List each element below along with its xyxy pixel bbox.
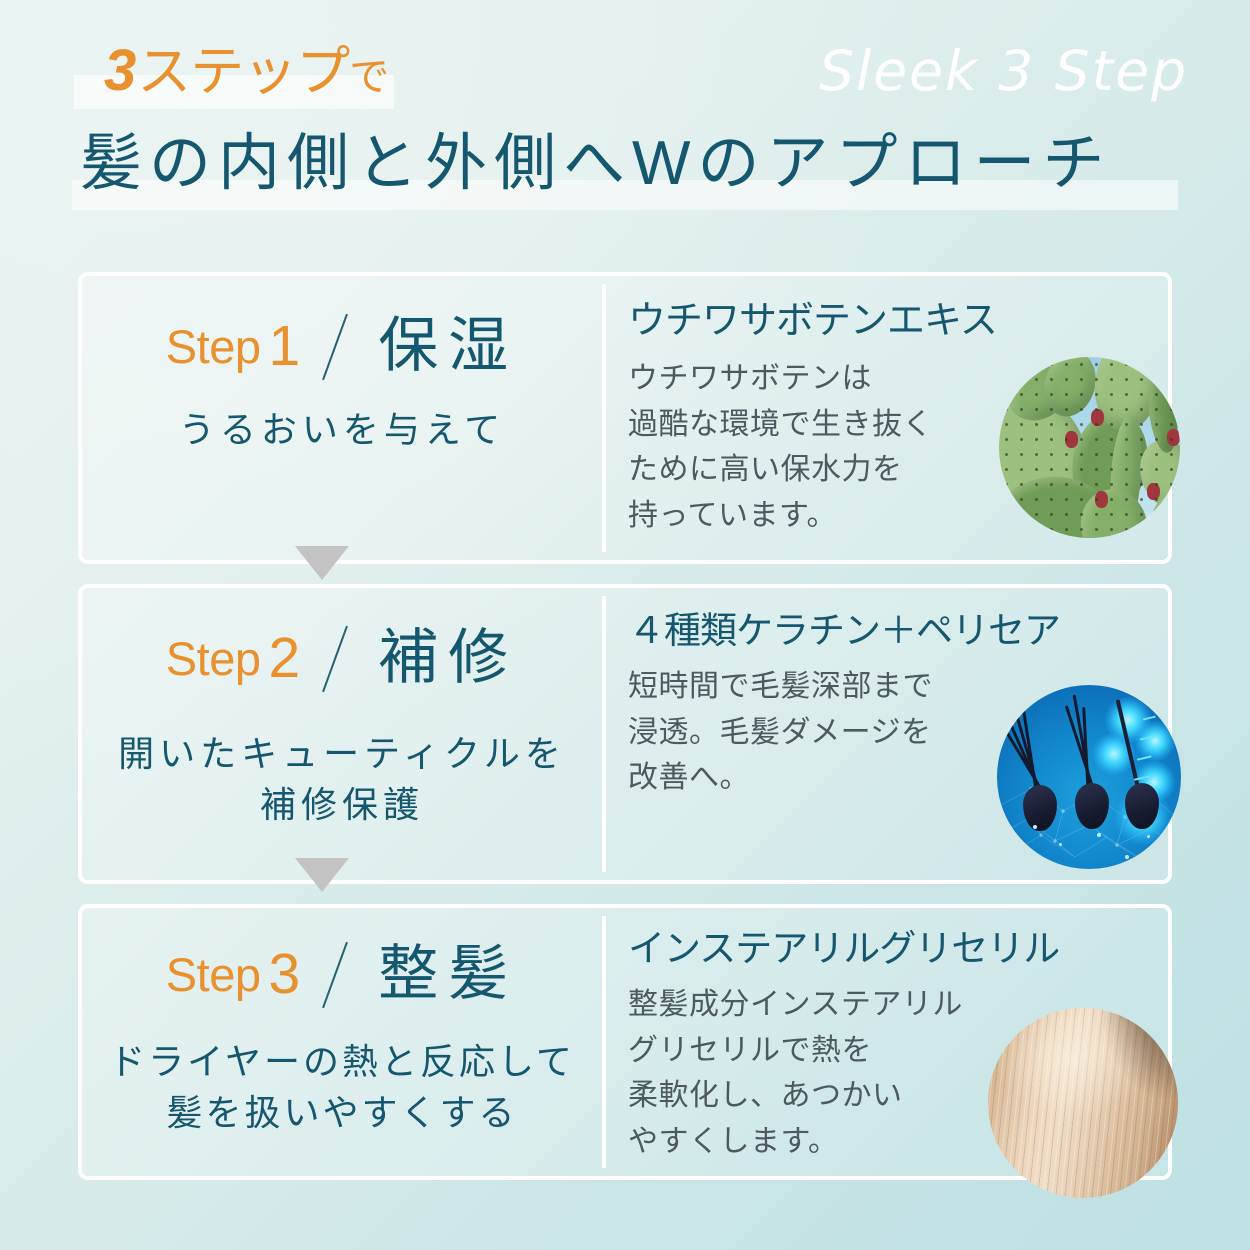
slash-separator-icon — [306, 622, 364, 694]
step-1-ingredient-body: ウチワサボテンは過酷な環境で生き抜くために高い保水力を持っています。 — [628, 356, 933, 538]
step-3-number: 3 — [266, 946, 300, 1003]
headline-line-2-text: 髪の内側と外側へWのアプローチ — [80, 130, 1112, 198]
step-2-left-column: Step 2 補修 開いたキューティクルを補修保護 — [82, 588, 602, 880]
step-2-label: Step — [166, 635, 261, 682]
card-divider — [602, 916, 606, 1168]
step-1-ingredient-title: ウチワサボテンエキス — [628, 302, 997, 340]
arrow-down-step1-to-step2 — [295, 546, 349, 580]
hair-sheen-highlight — [988, 1008, 1178, 1198]
step-1-subtitle: うるおいを与えて — [82, 404, 602, 455]
headline-line-1-text: 3ステップで — [104, 42, 388, 100]
slash-separator-icon — [306, 310, 364, 382]
headline-line-1-rest: ステップ — [137, 42, 349, 102]
step-2-subtitle: 開いたキューティクルを補修保護 — [82, 728, 602, 830]
step-1-left-column: Step 1 保湿 うるおいを与えて — [82, 276, 602, 560]
step-3-ingredient-body: 整髪成分インステアリルグリセリルで熱を柔軟化し、あつかいやすくします。 — [628, 982, 963, 1164]
headline: 3ステップで 髪の内側と外側へWのアプローチ — [80, 48, 1190, 222]
step-3-title: 整髪 — [370, 944, 518, 1004]
step-2-title: 補修 — [370, 628, 518, 688]
card-divider — [602, 596, 606, 872]
step-2-heading: Step 2 補修 — [82, 622, 602, 694]
step-1-heading: Step 1 保湿 — [82, 310, 602, 382]
arrow-down-step2-to-step3 — [295, 858, 349, 892]
headline-line-1-suffix: で — [349, 55, 388, 99]
hair-follicle-illustration — [997, 685, 1181, 869]
step-3-label: Step — [166, 951, 261, 998]
step-3-ingredient-title: インステアリルグリセリル — [628, 930, 1059, 967]
step-3-heading: Step 3 整髪 — [82, 938, 602, 1010]
cactus-photo — [999, 357, 1180, 538]
step-3-left-column: Step 3 整髪 ドライヤーの熱と反応して髪を扱いやすくする — [82, 908, 602, 1176]
cactus-spines-texture — [999, 357, 1180, 538]
step-1-title: 保湿 — [370, 316, 518, 376]
headline-line-1: 3ステップで — [80, 48, 1190, 114]
slash-separator-icon — [306, 938, 364, 1010]
step-3-subtitle: ドライヤーの熱と反応して髪を扱いやすくする — [82, 1036, 602, 1138]
headline-number: 3 — [104, 38, 137, 103]
headline-line-2: 髪の内側と外側へWのアプローチ — [80, 130, 1190, 222]
step-1-number: 1 — [266, 318, 300, 375]
card-divider — [602, 284, 606, 552]
step-2-ingredient-title: ４種類ケラチン＋ペリセア — [628, 612, 1060, 649]
step-2-ingredient-body: 短時間で毛髪深部まで浸透。毛髪ダメージを改善へ。 — [628, 664, 933, 801]
blonde-hair-photo — [988, 1008, 1178, 1198]
step-2-number: 2 — [266, 630, 300, 687]
infographic-root: Sleek 3 Step 3ステップで 髪の内側と外側へWのアプローチ Step… — [0, 0, 1250, 1250]
step-1-label: Step — [166, 323, 261, 370]
